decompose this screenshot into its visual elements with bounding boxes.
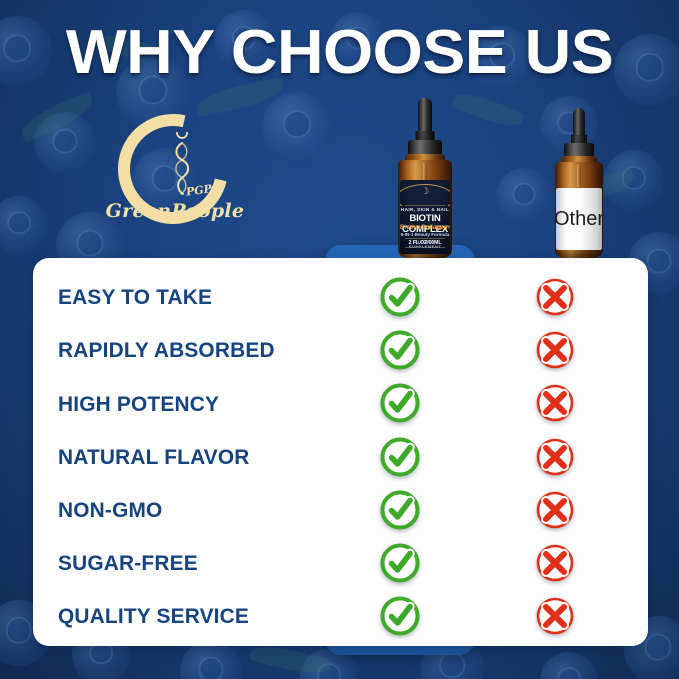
check-icon <box>380 490 420 530</box>
feature-label: RAPIDLY ABSORBED <box>58 338 275 363</box>
feature-row: HIGH POTENCY <box>33 376 648 431</box>
cross-icon <box>535 490 575 530</box>
other-bottle-label-text: Other <box>554 208 604 231</box>
check-icon <box>380 330 420 370</box>
cross-icon <box>535 596 575 636</box>
label-monogram-icon: ☽ <box>421 187 429 197</box>
other-dropper-bulb <box>573 108 585 138</box>
cross-icon <box>535 277 575 317</box>
feature-label: EASY TO TAKE <box>58 285 212 310</box>
check-icon <box>380 543 420 583</box>
feature-label: HIGH POTENCY <box>58 392 219 417</box>
dropper-bulb <box>418 98 432 134</box>
feature-row: RAPIDLY ABSORBED <box>33 323 648 378</box>
page-title: WHY CHOOSE US <box>0 22 679 84</box>
comparison-infographic: WHY CHOOSE US PGP GreenPeople ☽ HAIR, SK… <box>0 0 679 679</box>
label-ingredients: Biotin+Collagen+Keratin <box>400 224 450 231</box>
check-icon <box>380 437 420 477</box>
feature-label: QUALITY SERVICE <box>58 604 249 629</box>
product-label: ☽ HAIR, SKIN & NAIL BIOTIN COMPLEX Bioti… <box>400 180 450 254</box>
other-bottle-cap <box>564 143 594 157</box>
check-icon <box>380 383 420 423</box>
label-formula: 5-IN-1 Beauty Formula <box>400 232 450 237</box>
other-dropper-pipette <box>577 164 581 190</box>
cross-icon <box>535 437 575 477</box>
cross-icon <box>535 383 575 423</box>
feature-row-list: EASY TO TAKERAPIDLY ABSORBEDHIGH POTENCY… <box>33 258 648 646</box>
feature-row: SUGAR-FREE <box>33 536 648 591</box>
feature-label: NATURAL FLAVOR <box>58 445 250 470</box>
check-icon <box>380 596 420 636</box>
cross-icon <box>535 543 575 583</box>
feature-row: EASY TO TAKE <box>33 270 648 325</box>
feature-label: NON-GMO <box>58 498 162 523</box>
cross-icon <box>535 330 575 370</box>
other-bottle-label: Other <box>556 188 602 250</box>
brand-logo: PGP GreenPeople <box>100 112 250 237</box>
bottle-cap <box>408 140 442 155</box>
other-product-bottle: Other <box>548 108 610 260</box>
feature-row: NON-GMO <box>33 483 648 538</box>
label-footer: DIETARY SUPPLEMENT <box>400 239 450 249</box>
label-category: HAIR, SKIN & NAIL <box>400 207 450 212</box>
check-icon <box>380 277 420 317</box>
feature-row: NATURAL FLAVOR <box>33 430 648 485</box>
our-product-bottle: ☽ HAIR, SKIN & NAIL BIOTIN COMPLEX Bioti… <box>390 98 460 260</box>
logo-brand-name: GreenPeople <box>100 200 250 222</box>
feature-row: QUALITY SERVICE <box>33 589 648 644</box>
feature-label: SUGAR-FREE <box>58 551 198 576</box>
